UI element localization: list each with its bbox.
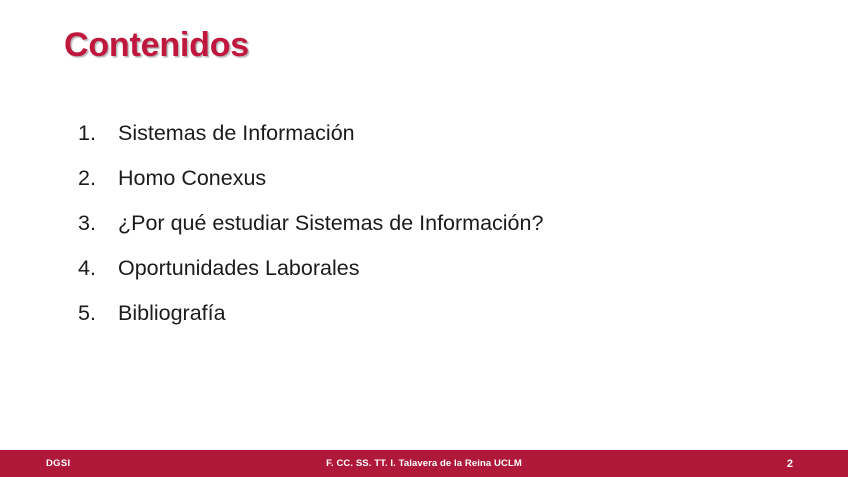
footer-institution-label: F. CC. SS. TT. I. Talavera de la Reina U… (0, 458, 848, 469)
page-title: Contenidos (64, 24, 249, 66)
presentation-slide: Contenidos 1. Sistemas de Información 2.… (0, 0, 848, 477)
slide-number: 2 (787, 458, 793, 470)
list-item: 1. Sistemas de Información (78, 120, 778, 165)
list-item-number: 5. (78, 300, 118, 326)
list-item-number: 3. (78, 210, 118, 236)
list-item: 3. ¿Por qué estudiar Sistemas de Informa… (78, 210, 778, 255)
list-item-number: 1. (78, 120, 118, 146)
list-item: 5. Bibliografía (78, 300, 778, 345)
list-item-label: Sistemas de Información (118, 120, 778, 146)
list-item: 2. Homo Conexus (78, 165, 778, 210)
list-item-label: Bibliografía (118, 300, 778, 326)
list-item-label: Oportunidades Laborales (118, 255, 778, 281)
slide-footer: DGSI F. CC. SS. TT. I. Talavera de la Re… (0, 450, 848, 477)
list-item: 4. Oportunidades Laborales (78, 255, 778, 300)
list-item-number: 2. (78, 165, 118, 191)
list-item-number: 4. (78, 255, 118, 281)
list-item-label: Homo Conexus (118, 165, 778, 191)
list-item-label: ¿Por qué estudiar Sistemas de Informació… (118, 210, 778, 236)
contents-list: 1. Sistemas de Información 2. Homo Conex… (78, 120, 778, 345)
